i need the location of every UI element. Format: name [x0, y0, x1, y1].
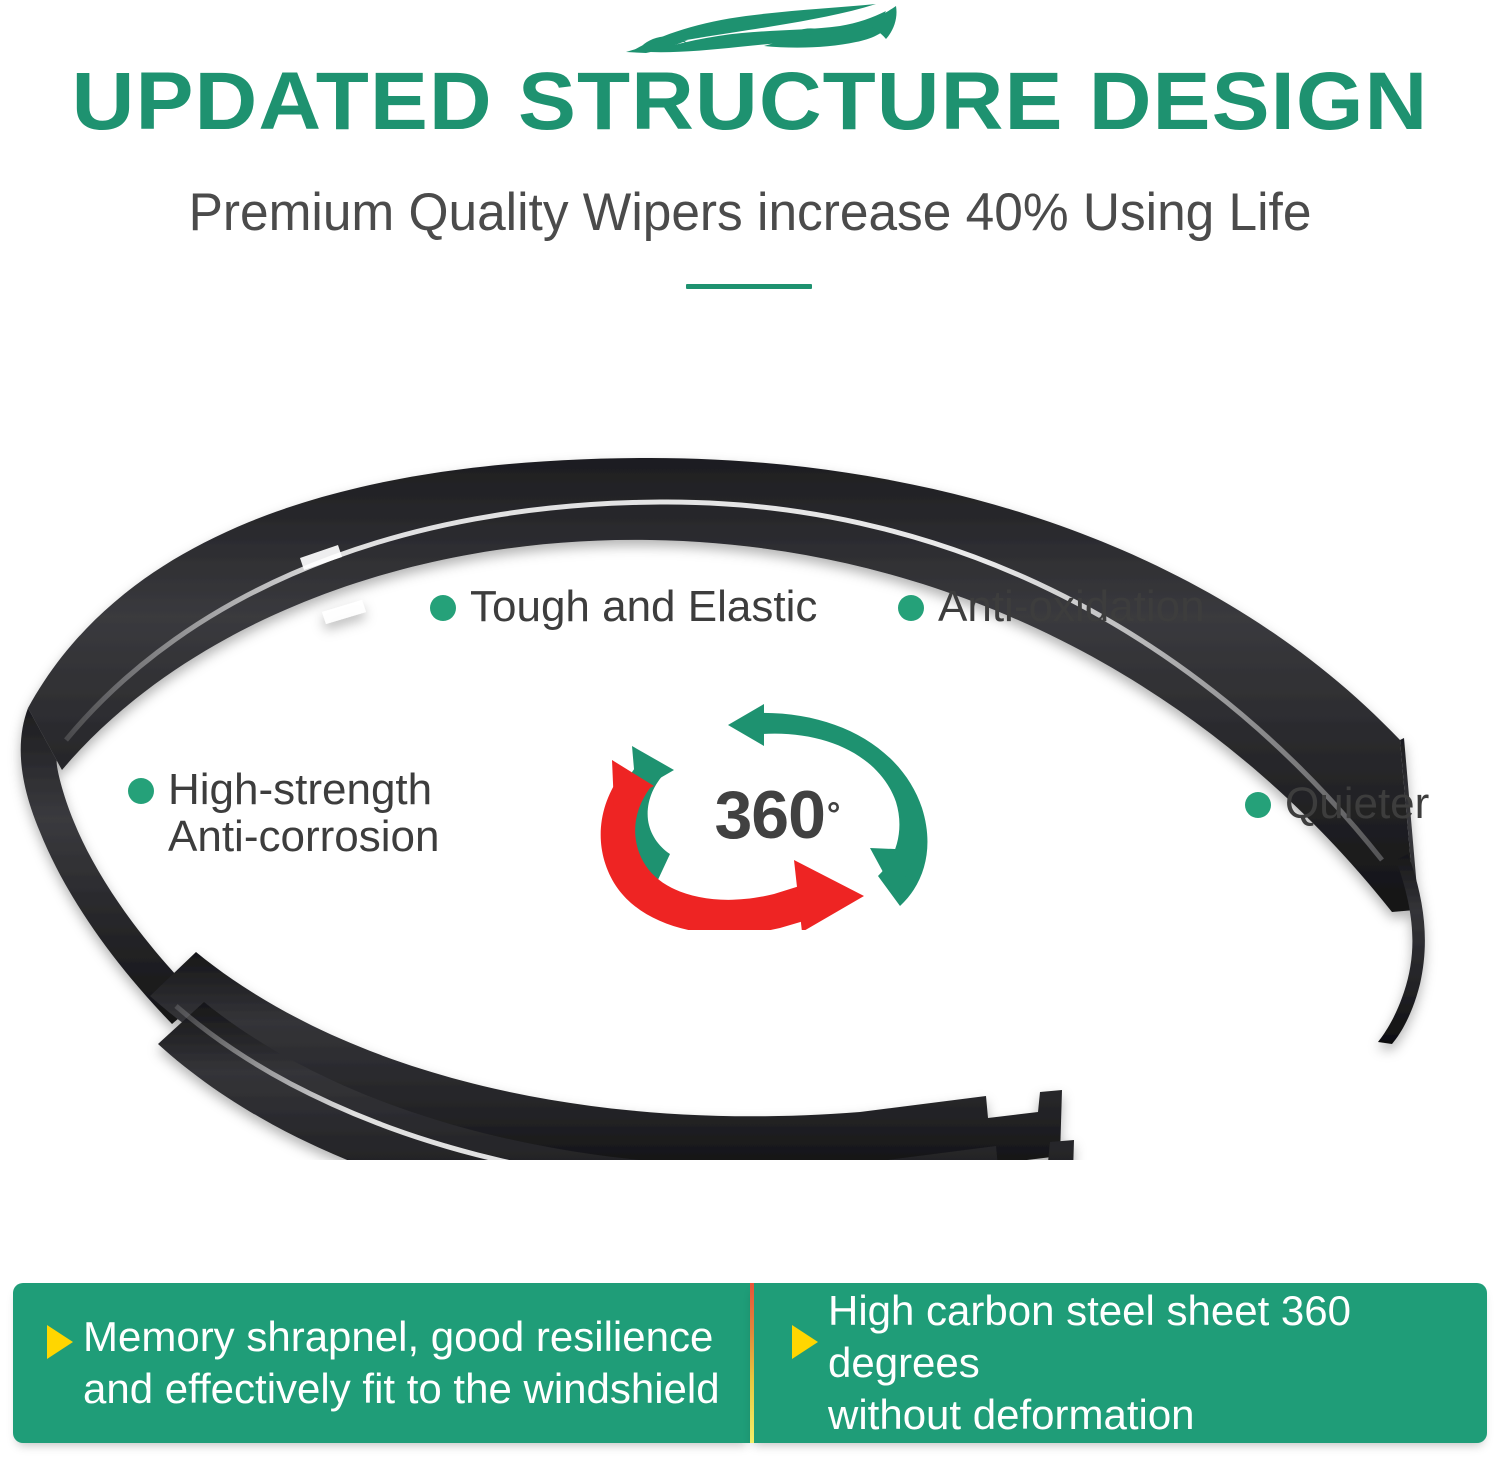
triangle-bullet-icon: [792, 1325, 818, 1359]
hotspot-label-line: Anti-corrosion: [168, 812, 439, 861]
triangle-bullet-icon: [47, 1325, 73, 1359]
hotspot-label-line: High-strength: [168, 765, 432, 814]
hotspot-anti-oxidation: Anti-oxidation: [898, 583, 1205, 630]
feature-banner-high-carbon-steel: High carbon steel sheet 360 degrees with…: [750, 1283, 1487, 1443]
hotspot-label-line: Tough and Elastic: [470, 582, 817, 631]
bullet-dot-icon: [128, 778, 154, 804]
page-subtitle: Premium Quality Wipers increase 40% Usin…: [23, 183, 1478, 243]
banner-text-line: Memory shrapnel, good resilience: [83, 1313, 713, 1360]
banner-text-line: without deformation: [828, 1391, 1195, 1438]
feature-banner-memory-shrapnel: Memory shrapnel, good resilience and eff…: [13, 1283, 750, 1443]
bullet-dot-icon: [898, 595, 924, 621]
hotspot-label-line: Quieter: [1285, 779, 1429, 828]
hotspot-quieter: Quieter: [1245, 780, 1429, 827]
infographic-canvas: UPDATED STRUCTURE DESIGN Premium Quality…: [0, 0, 1500, 1475]
banner-divider: [750, 1283, 754, 1443]
bullet-dot-icon: [1245, 792, 1271, 818]
hotspot-high-strength-anti-corrosion: High-strength Anti-corrosion: [128, 766, 439, 860]
title-divider: [686, 284, 812, 289]
360-degree-rotation-badge: 360°: [578, 700, 958, 930]
sports-car-silhouette-icon: [614, 2, 904, 62]
hotspot-tough-and-elastic: Tough and Elastic: [430, 583, 817, 630]
page-title: UPDATED STRUCTURE DESIGN: [0, 60, 1500, 144]
green-rotation-arrow: [728, 704, 927, 906]
banner-text-line: High carbon steel sheet 360 degrees: [828, 1287, 1351, 1386]
banner-text-line: and effectively fit to the windshield: [83, 1365, 720, 1412]
bullet-dot-icon: [430, 595, 456, 621]
hotspot-label-line: Anti-oxidation: [938, 582, 1205, 631]
